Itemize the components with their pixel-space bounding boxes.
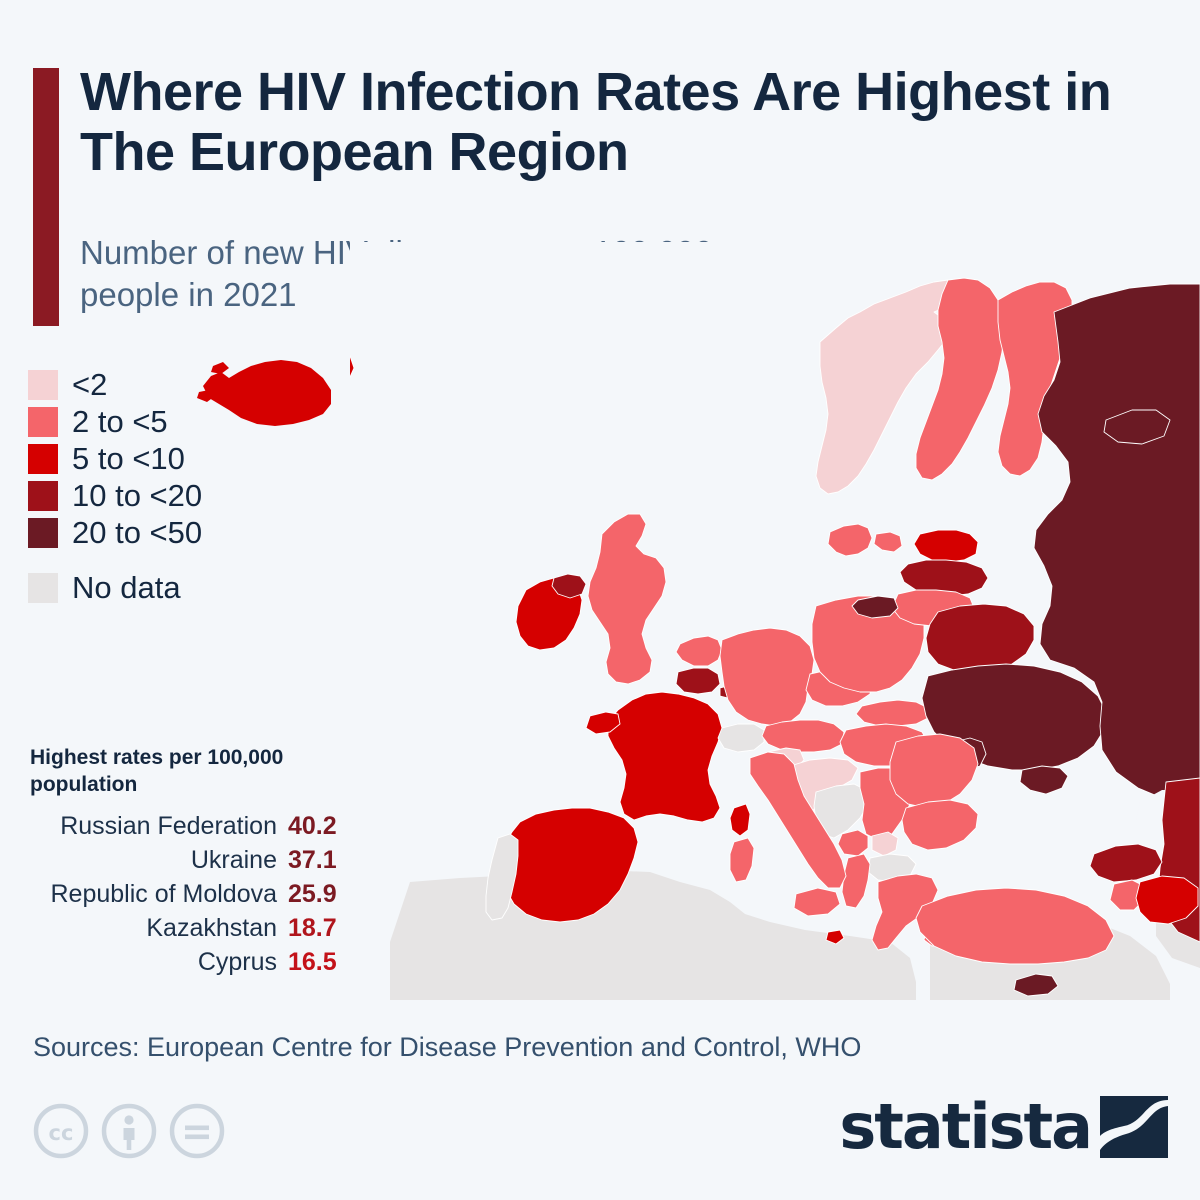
legend-label-2: 5 to <10 xyxy=(72,441,185,477)
legend-item-4: 20 to <50 xyxy=(28,514,328,551)
statista-logo: statista xyxy=(839,1096,1168,1158)
legend-swatch-0 xyxy=(28,370,58,400)
legend-label-nodata: No data xyxy=(72,570,181,606)
ranking-value: 40.2 xyxy=(288,812,350,841)
legend-label-3: 10 to <20 xyxy=(72,478,202,514)
map-legend: <2 2 to <5 5 to <10 10 to <20 20 to <50 … xyxy=(28,366,328,606)
country-france xyxy=(608,692,722,822)
page-title: Where HIV Infection Rates Are Highest in… xyxy=(80,62,1190,183)
ranking-row: Republic of Moldova 25.9 xyxy=(30,880,350,914)
legend-item-3: 10 to <20 xyxy=(28,477,328,514)
ranking-value: 25.9 xyxy=(288,880,350,909)
choropleth-map xyxy=(350,242,1200,1000)
ranking-country: Russian Federation xyxy=(60,812,277,841)
country-montenegro xyxy=(838,830,868,856)
legend-item-2: 5 to <10 xyxy=(28,440,328,477)
country-belgium xyxy=(676,668,720,694)
ranking-country: Republic of Moldova xyxy=(50,880,277,909)
cc-icon: cc xyxy=(33,1103,89,1159)
ranking-value: 37.1 xyxy=(288,846,350,875)
legend-item-0: <2 xyxy=(28,366,328,403)
legend-swatch-nodata xyxy=(28,573,58,603)
legend-swatch-2 xyxy=(28,444,58,474)
ranking-row: Russian Federation 40.2 xyxy=(30,812,350,846)
ranking-row: Cyprus 16.5 xyxy=(30,948,350,982)
cc-nd-icon xyxy=(169,1103,225,1159)
svg-text:cc: cc xyxy=(49,1121,74,1145)
sources-text: Sources: European Centre for Disease Pre… xyxy=(33,1032,861,1063)
ranking-value: 18.7 xyxy=(288,914,350,943)
ranking-country: Cyprus xyxy=(198,948,277,977)
legend-swatch-1 xyxy=(28,407,58,437)
ranking-heading: Highest rates per 100,000 population xyxy=(30,745,350,799)
legend-label-0: <2 xyxy=(72,367,107,403)
legend-label-1: 2 to <5 xyxy=(72,404,168,440)
map-svg xyxy=(350,242,1200,1000)
legend-swatch-3 xyxy=(28,481,58,511)
cc-by-icon xyxy=(101,1103,157,1159)
country-switzerland xyxy=(718,724,764,752)
ranking-row: Kazakhstan 18.7 xyxy=(30,914,350,948)
legend-swatch-4 xyxy=(28,518,58,548)
title-accent-bar xyxy=(33,68,59,326)
legend-item-nodata: No data xyxy=(28,569,328,606)
ranking-row: Ukraine 37.1 xyxy=(30,846,350,880)
legend-item-1: 2 to <5 xyxy=(28,403,328,440)
statista-wordmark: statista xyxy=(839,1096,1091,1158)
ranking-country: Kazakhstan xyxy=(146,914,277,943)
ranking-value: 16.5 xyxy=(288,948,350,977)
statista-mark-icon xyxy=(1100,1096,1168,1158)
top-rates-list: Highest rates per 100,000 population Rus… xyxy=(30,745,350,982)
legend-label-4: 20 to <50 xyxy=(72,515,202,551)
ranking-country: Ukraine xyxy=(191,846,277,875)
license-badges: cc xyxy=(33,1103,225,1159)
